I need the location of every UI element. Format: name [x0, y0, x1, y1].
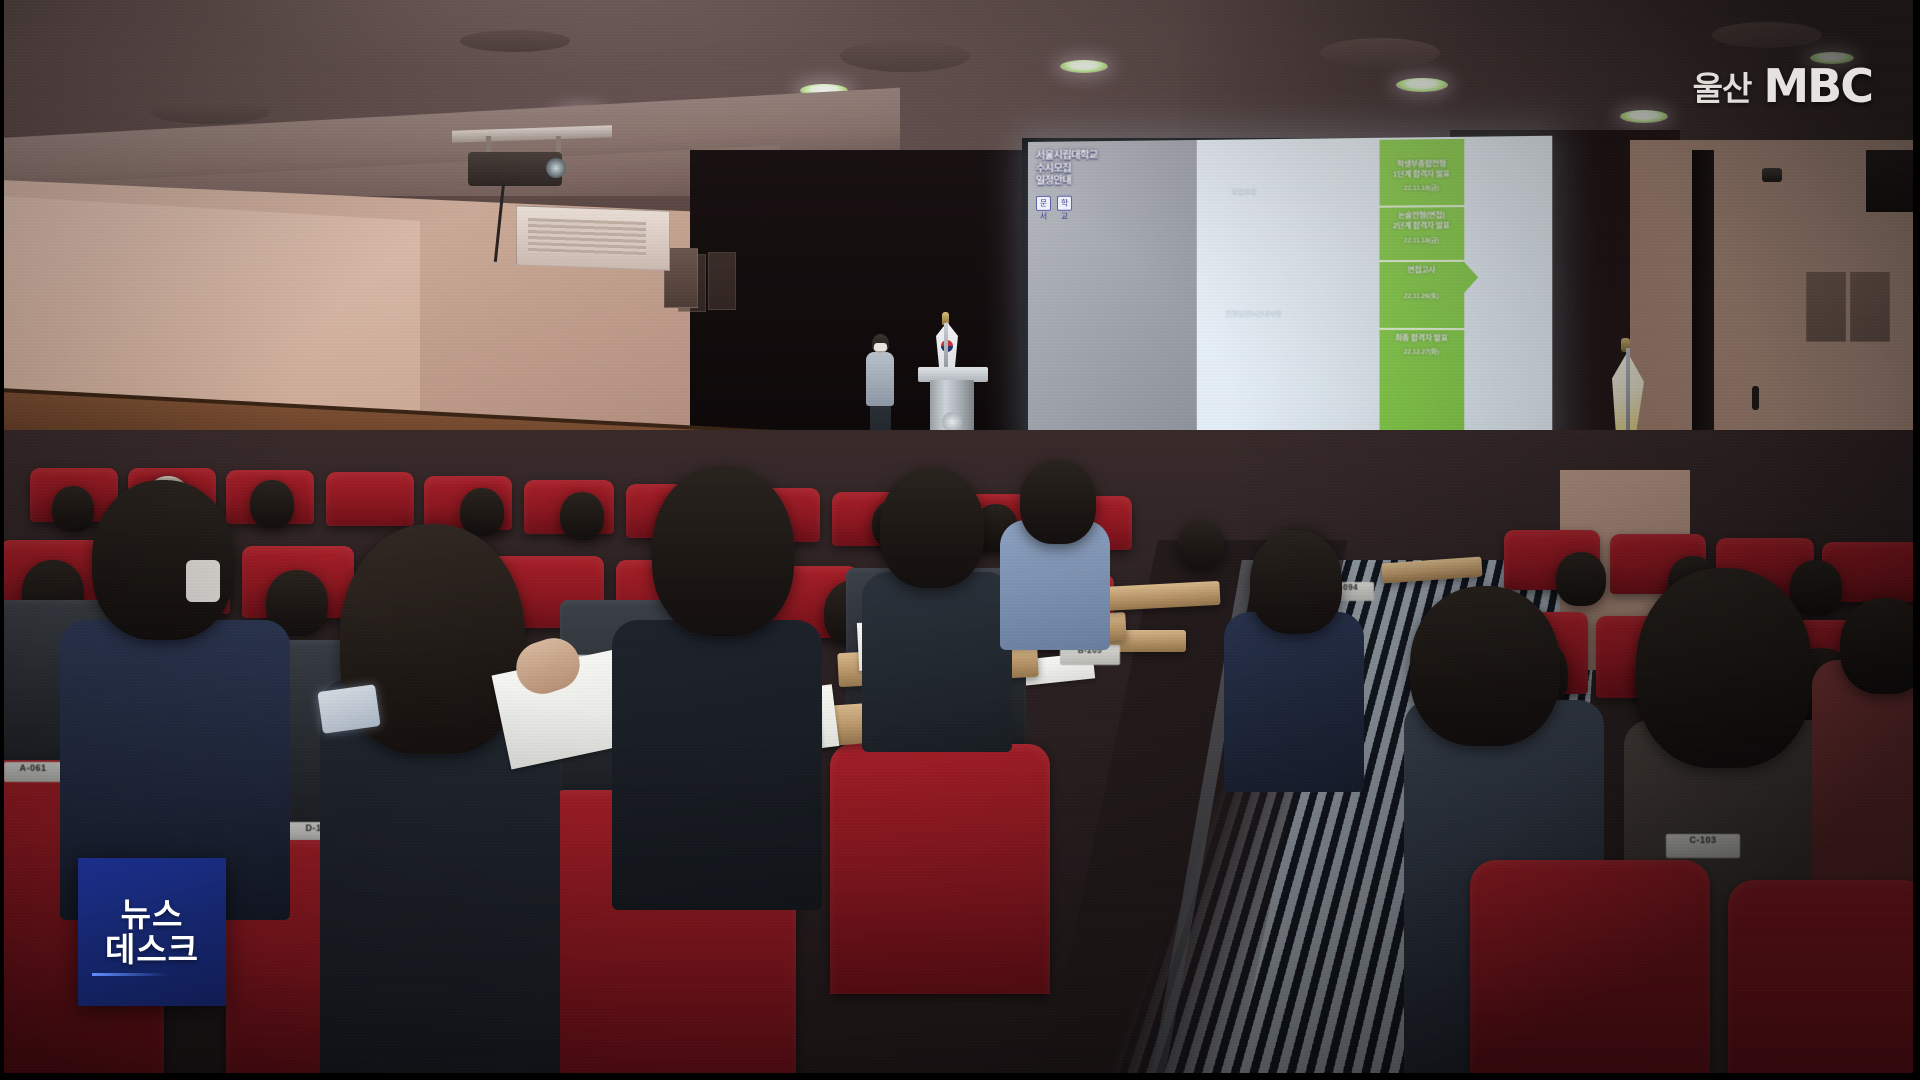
audience-head [560, 492, 604, 540]
timeline-step-1-heading-b: 1단계 합격자 발표 [1381, 169, 1462, 180]
letterbox-bottom [0, 1073, 1920, 1080]
station-name-label: MBC [1763, 65, 1872, 107]
ceiling-vent-3 [1320, 38, 1440, 68]
seat-plate: C-103 [1666, 834, 1740, 858]
school-icon: 학교 [1057, 195, 1072, 210]
audience-head [52, 486, 94, 532]
timeline-step-2-heading-b: 2단계 합격자 발표 [1381, 221, 1462, 232]
ceiling-vent-5 [460, 30, 570, 52]
ceiling-vent-1 [150, 100, 270, 124]
ceiling-vent-2 [840, 40, 970, 72]
station-logo: 울산 MBC [1693, 62, 1872, 110]
timeline-step-4: 최종 합격자 발표 22.12.27(화) [1379, 327, 1464, 360]
seat[interactable] [1728, 880, 1920, 1080]
seat[interactable] [1470, 860, 1710, 1080]
slide-ghost-mid: 전형일정\n안내사항 [1225, 310, 1281, 320]
spotlight-icon [1762, 168, 1782, 182]
seat-plate: A-061 [4, 762, 62, 782]
timeline-step-4-date: 22.12.27(화) [1381, 345, 1462, 356]
station-region-label: 울산 [1693, 62, 1752, 110]
seat[interactable] [830, 744, 1050, 994]
slide-title-line-3: 일정안내 [1036, 175, 1188, 189]
projection-screen[interactable]: 서울시립대학교 수시모집 일정안내 문서 학교 모집요강 전형일정\n안내사항 … [1028, 136, 1552, 457]
timeline-step-1: 학생부종합전형 1단계 합격자 발표 22.11.18(금) [1379, 155, 1464, 197]
audience-head [460, 488, 504, 536]
audience-head [1556, 552, 1606, 606]
timeline-step-3-date: 22.11.26(토) [1381, 289, 1462, 299]
timeline-step-3-heading-a: 면접고사 [1381, 264, 1462, 275]
audience-head [1636, 568, 1812, 768]
document-icon: 문서 [1036, 195, 1051, 210]
timeline-step-3: 면접고사 22.11.26(토) [1379, 259, 1464, 305]
audience-head [1178, 520, 1224, 570]
timeline-step-2-heading-a: 논술전형(면접) [1381, 210, 1462, 221]
downlight-6 [1060, 60, 1108, 73]
ceiling-vent-4 [1712, 22, 1822, 48]
slide-content-panel: 모집요강 전형일정\n안내사항 학생부종합전형 1단계 합격자 발표 22.11… [1196, 136, 1552, 457]
tablet-device[interactable] [317, 684, 380, 734]
audience-head [1020, 460, 1096, 544]
wall-speaker-right [1866, 150, 1920, 212]
presentation-slide: 서울시립대학교 수시모집 일정안내 문서 학교 모집요강 전형일정\n안내사항 … [1028, 136, 1552, 457]
air-conditioner-vent [528, 218, 646, 256]
timeline-step-2-date: 22.11.18(금) [1381, 233, 1462, 244]
audience-head [1840, 598, 1920, 694]
audience-head [1250, 530, 1342, 634]
door-handle[interactable] [1752, 386, 1759, 410]
acoustic-panel-left-b [708, 252, 736, 310]
projector-lens-icon [546, 158, 566, 178]
seat[interactable] [326, 472, 414, 526]
program-badge-underline [92, 973, 168, 976]
presenter-body [866, 352, 894, 406]
audience-body [862, 572, 1012, 752]
audience-head [1790, 560, 1842, 616]
timeline-step-1-heading-a: 학생부종합전형 [1381, 159, 1462, 170]
presenter-mask [874, 343, 887, 351]
timeline-step-4-heading-a: 최종 합격자 발표 [1381, 333, 1462, 344]
slide-title-panel: 서울시립대학교 수시모집 일정안내 문서 학교 [1028, 140, 1196, 452]
audience-head [250, 480, 294, 528]
slide-ghost-top: 모집요강 [1231, 188, 1256, 198]
audience-mask [186, 560, 220, 602]
slide-timeline: 학생부종합전형 1단계 합격자 발표 22.11.18(금) 논술전형(면접) … [1379, 139, 1464, 451]
broadcast-frame: 서울시립대학교 수시모집 일정안내 문서 학교 모집요강 전형일정\n안내사항 … [0, 0, 1920, 1080]
acoustic-panel-right-a [1806, 272, 1846, 342]
downlight-7 [1396, 78, 1448, 92]
audience-head [1410, 586, 1560, 746]
audience-head [652, 466, 794, 636]
program-title-line-1: 뉴스 [121, 898, 184, 932]
program-badge: 뉴스 데스크 [78, 858, 226, 1006]
timeline-step-2: 논술전형(면접) 2단계 합격자 발표 22.11.18(금) [1379, 205, 1464, 249]
pillarbox-left [0, 0, 4, 1080]
audience-body [612, 620, 822, 910]
program-title-line-2: 데스크 [105, 933, 199, 967]
audience-head [880, 468, 984, 588]
slide-icon-row: 문서 학교 [1036, 194, 1188, 210]
podium-emblem-icon [942, 412, 962, 432]
pillarbox-right [1913, 0, 1920, 1080]
downlight-8 [1620, 110, 1668, 123]
timeline-step-1-date: 22.11.18(금) [1381, 182, 1462, 193]
audience-body [1224, 612, 1364, 792]
acoustic-panel-right-b [1850, 272, 1890, 342]
